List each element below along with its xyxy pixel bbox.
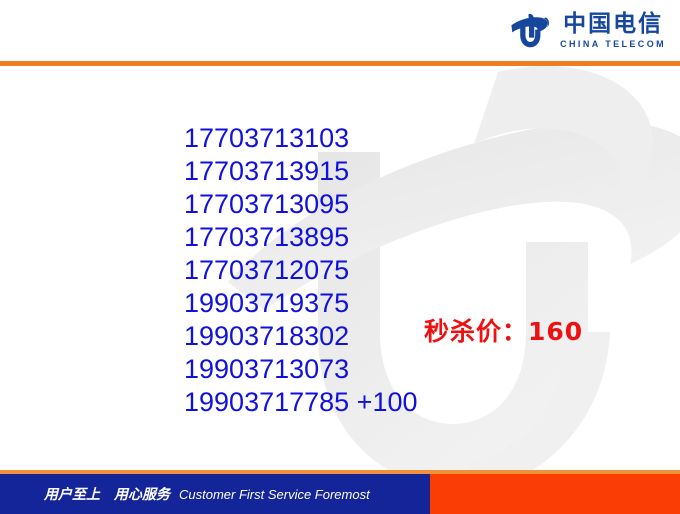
slide-page: 中国电信 CHINA TELECOM 17703713103 177037139… bbox=[0, 0, 680, 514]
price-label: 秒杀价：160 bbox=[424, 312, 583, 348]
list-item[interactable]: 19903718302 bbox=[184, 320, 418, 353]
main-content: 17703713103 17703713915 17703713095 1770… bbox=[0, 66, 680, 470]
footer-slogan-cn: 用户至上 用心服务 bbox=[44, 484, 170, 504]
list-item[interactable]: 17703713915 bbox=[184, 155, 418, 188]
header-divider bbox=[0, 61, 680, 66]
list-item[interactable]: 19903717785 +100 bbox=[184, 386, 418, 419]
brand-logo: 中国电信 CHINA TELECOM bbox=[507, 12, 666, 50]
footer-divider bbox=[0, 470, 680, 474]
list-item[interactable]: 19903713073 bbox=[184, 353, 418, 386]
brand-name-en: CHINA TELECOM bbox=[560, 40, 666, 49]
footer-slogan-en: Customer First Service Foremost bbox=[179, 487, 370, 502]
china-telecom-logo-mark bbox=[507, 12, 551, 50]
list-item[interactable]: 17703712075 bbox=[184, 254, 418, 287]
list-item[interactable]: 17703713103 bbox=[184, 122, 418, 155]
footer-slogan-bar: 用户至上 用心服务 Customer First Service Foremos… bbox=[0, 474, 430, 514]
list-item[interactable]: 17703713895 bbox=[184, 221, 418, 254]
list-item[interactable]: 17703713095 bbox=[184, 188, 418, 221]
brand-logo-text: 中国电信 CHINA TELECOM bbox=[560, 13, 666, 49]
page-footer: 用户至上 用心服务 Customer First Service Foremos… bbox=[0, 470, 680, 514]
brand-name-cn: 中国电信 bbox=[563, 13, 663, 36]
page-header: 中国电信 CHINA TELECOM bbox=[0, 0, 680, 62]
phone-number-list: 17703713103 17703713915 17703713095 1770… bbox=[184, 122, 418, 419]
list-item[interactable]: 19903719375 bbox=[184, 287, 418, 320]
